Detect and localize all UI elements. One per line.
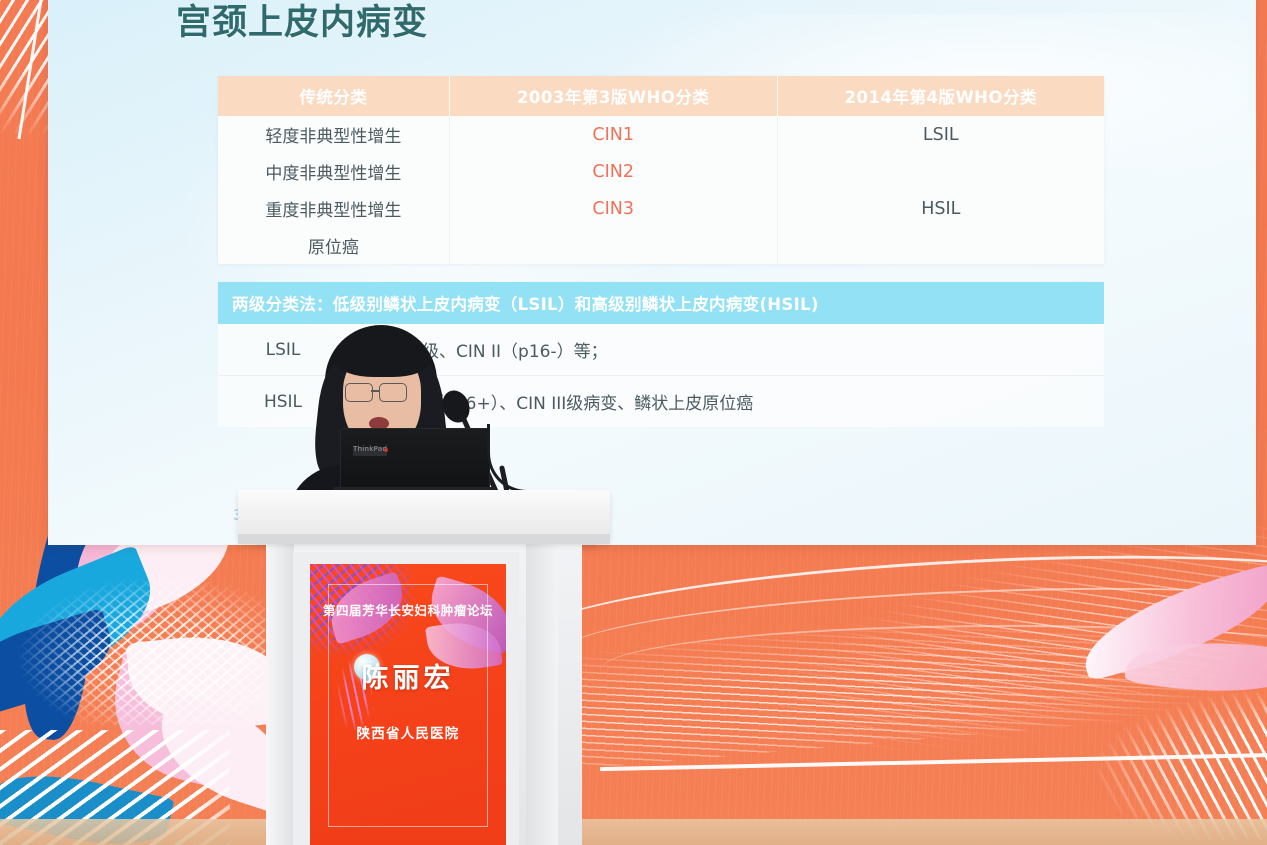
cell-traditional: 轻度非典型性增生 bbox=[218, 116, 449, 153]
classification-table: 传统分类 2003年第3版WHO分类 2014年第4版WHO分类 轻度非典型性增… bbox=[218, 76, 1104, 264]
glasses-bridge bbox=[371, 390, 379, 392]
podium-right-panel bbox=[526, 542, 558, 845]
cell-who2003: CIN1 bbox=[449, 116, 777, 153]
sign-border-frame bbox=[328, 584, 488, 827]
cell-traditional: 中度非典型性增生 bbox=[218, 153, 449, 190]
speaker-name-label: 陈丽宏 bbox=[310, 656, 506, 695]
cell-who2014: HSIL bbox=[777, 190, 1104, 227]
glasses-icon bbox=[379, 383, 407, 402]
table-row: 原位癌 bbox=[218, 227, 1104, 264]
laptop-logo-dot bbox=[384, 448, 388, 452]
speaker-org-label: 陕西省人民医院 bbox=[310, 722, 506, 742]
cell-who2014 bbox=[777, 153, 1104, 190]
column-header-who2014: 2014年第4版WHO分类 bbox=[777, 76, 1104, 116]
hatch-decoration bbox=[15, 575, 265, 725]
two-tier-header: 两级分类法：低级别鳞状上皮内病变（LSIL）和高级别鳞状上皮内病变(HSIL) bbox=[218, 282, 1104, 324]
glasses-icon bbox=[345, 383, 373, 402]
cell-who2003: CIN2 bbox=[449, 153, 777, 190]
podium-top-edge bbox=[238, 534, 610, 544]
stage-floor bbox=[0, 819, 1267, 845]
laptop[interactable]: ThinkPad bbox=[340, 428, 490, 492]
cell-who2014 bbox=[777, 227, 1104, 264]
cell-who2014: LSIL bbox=[777, 116, 1104, 153]
podium: 第四届芳华长安妇科肿瘤论坛 陈丽宏 陕西省人民医院 bbox=[238, 490, 610, 845]
column-header-traditional: 传统分类 bbox=[218, 76, 449, 116]
table-row: 重度非典型性增生 CIN3 HSIL bbox=[218, 190, 1104, 227]
table-header-row: 传统分类 2003年第3版WHO分类 2014年第4版WHO分类 bbox=[218, 76, 1104, 116]
cell-who2003 bbox=[449, 227, 777, 264]
podium-sign-display: 第四届芳华长安妇科肿瘤论坛 陈丽宏 陕西省人民医院 bbox=[310, 564, 506, 845]
cell-who2003: CIN3 bbox=[449, 190, 777, 227]
laptop-brand-label: ThinkPad bbox=[353, 445, 387, 453]
table-row: 轻度非典型性增生 CIN1 LSIL bbox=[218, 116, 1104, 153]
projection-screen: 宫颈上皮内病变 3 传统分类 2003年第3版WHO分类 2014年第4版WHO… bbox=[48, 0, 1256, 545]
hair-bangs bbox=[338, 343, 428, 377]
forum-name-label: 第四届芳华长安妇科肿瘤论坛 bbox=[310, 600, 506, 619]
table-row: 中度非典型性增生 CIN2 bbox=[218, 153, 1104, 190]
cell-traditional: 原位癌 bbox=[218, 227, 449, 264]
frond-icon bbox=[1097, 690, 1267, 840]
cell-traditional: 重度非典型性增生 bbox=[218, 190, 449, 227]
podium-left-panel bbox=[266, 542, 294, 845]
presentation-scene: 宫颈上皮内病变 3 传统分类 2003年第3版WHO分类 2014年第4版WHO… bbox=[0, 0, 1267, 845]
column-header-who2003: 2003年第3版WHO分类 bbox=[449, 76, 777, 116]
page-title: 宫颈上皮内病变 bbox=[176, 2, 428, 44]
